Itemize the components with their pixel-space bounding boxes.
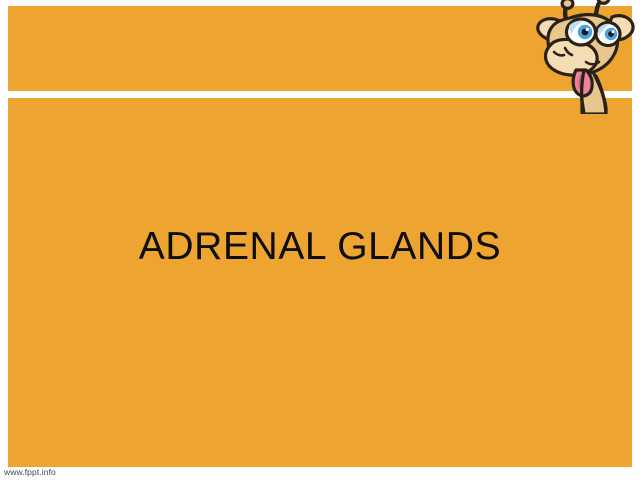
giraffe-mascot-icon [524, 0, 640, 114]
presentation-slide: ADRENAL GLANDS [0, 0, 640, 480]
content-accent-band [8, 98, 632, 467]
watermark-url: www.fppt.info [4, 467, 56, 477]
